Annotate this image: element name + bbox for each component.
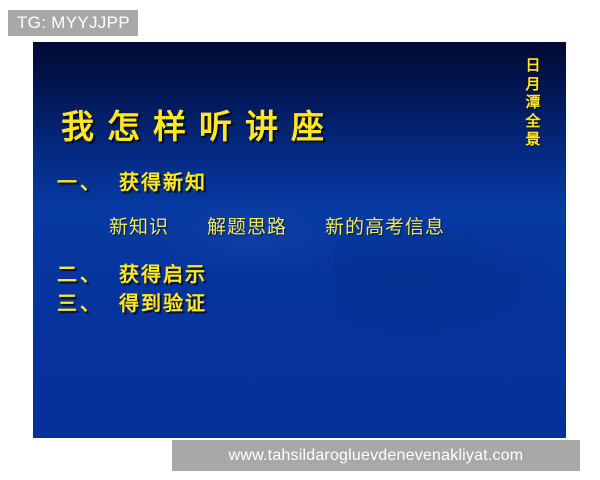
sub-item-2: 解题思路 (207, 216, 287, 238)
sub-item-1: 新知识 (109, 216, 169, 238)
footer-url-text: www.tahsildarogluevdenevenakliyat.com (229, 447, 524, 465)
footer-url-bar: www.tahsildarogluevdenevenakliyat.com (172, 440, 580, 471)
outline-label-1: 获得新知 (119, 170, 207, 194)
outline-item-1: 一、获得新知 (57, 166, 207, 195)
outline-number-2: 二、 (57, 262, 103, 286)
vertical-caption-text: 日月潭全景 (522, 56, 544, 149)
presentation-slide: 日月潭全景 我怎样听讲座 一、获得新知 新知识解题思路新的高考信息 二、获得启示… (33, 42, 566, 438)
background-texture (333, 227, 563, 347)
outline-item-3: 三、得到验证 (57, 287, 207, 316)
outline-item-2: 二、获得启示 (57, 258, 207, 287)
slide-title: 我怎样听讲座 (61, 100, 337, 148)
outline-number-1: 一、 (57, 170, 103, 194)
outline-number-3: 三、 (57, 291, 103, 315)
outline-label-2: 获得启示 (119, 262, 207, 286)
telegram-watermark-badge: TG: MYYJJPP (8, 10, 138, 36)
sub-item-3: 新的高考信息 (325, 216, 445, 238)
sub-item-line: 新知识解题思路新的高考信息 (109, 212, 445, 239)
outline-label-3: 得到验证 (119, 291, 207, 315)
watermark-label: TG: MYYJJPP (17, 13, 130, 33)
